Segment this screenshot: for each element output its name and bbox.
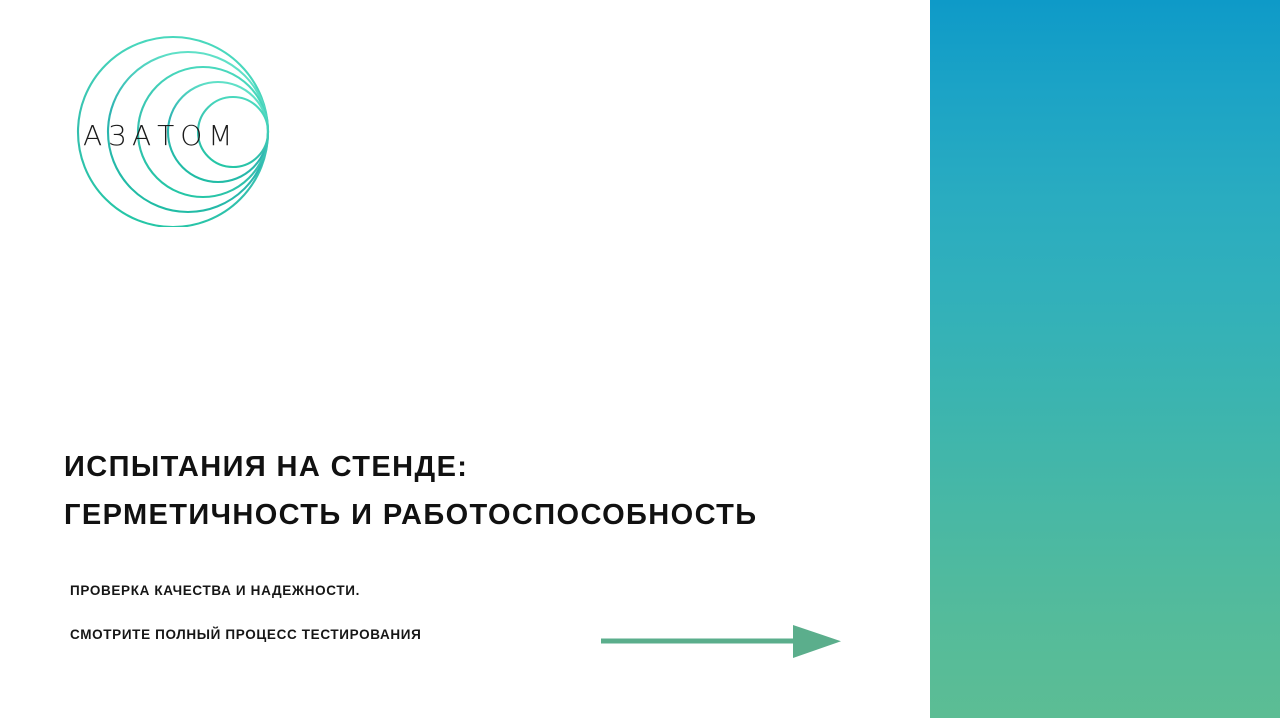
- subtitle-block: ПРОВЕРКА КАЧЕСТВА И НАДЕЖНОСТИ. СМОТРИТЕ…: [70, 580, 590, 646]
- subtitle-line-1: ПРОВЕРКА КАЧЕСТВА И НАДЕЖНОСТИ.: [70, 580, 590, 602]
- slide-canvas: АЗАТОМ ИСПЫТАНИЯ НА СТЕНДЕ: ГЕРМЕТИЧНОСТ…: [0, 0, 1280, 718]
- azatom-logo: АЗАТОМ: [55, 22, 270, 227]
- subtitle-line-2: СМОТРИТЕ ПОЛНЫЙ ПРОЦЕСС ТЕСТИРОВАНИЯ: [70, 624, 590, 646]
- logo-wordmark: АЗАТОМ: [83, 122, 238, 150]
- gradient-panel: [930, 0, 1280, 718]
- right-arrow-icon[interactable]: [601, 617, 845, 665]
- title-line-1: ИСПЫТАНИЯ НА СТЕНДЕ:: [64, 443, 884, 491]
- page-title: ИСПЫТАНИЯ НА СТЕНДЕ: ГЕРМЕТИЧНОСТЬ И РАБ…: [64, 443, 884, 539]
- title-line-2: ГЕРМЕТИЧНОСТЬ И РАБОТОСПОСОБНОСТЬ: [64, 491, 884, 539]
